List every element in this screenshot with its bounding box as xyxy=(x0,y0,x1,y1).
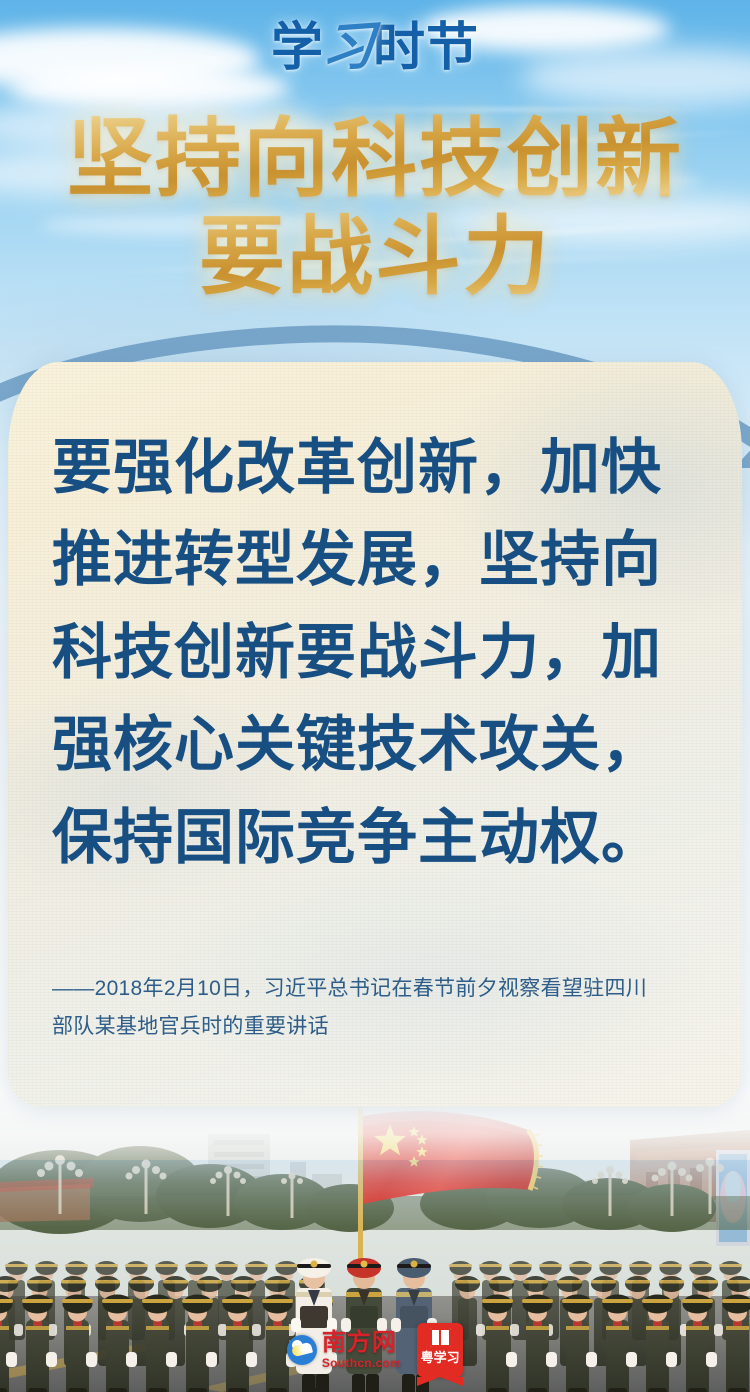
quote-line: 推进转型发展，坚持向 xyxy=(52,514,698,606)
quote-line: 科技创新要战斗力，加 xyxy=(52,607,698,699)
open-book-icon xyxy=(430,1328,451,1347)
yuexuexi-label: 粤学习 xyxy=(421,1351,460,1364)
brand-logo-part1: 学 xyxy=(271,19,324,77)
quote-line: 要强化改革创新，加快 xyxy=(52,422,698,514)
headline: 坚持向科技创新 要战斗力 xyxy=(0,110,750,306)
brand-logo: 学习时节 xyxy=(0,22,750,74)
quote-card: 要强化改革创新，加快 推进转型发展，坚持向 科技创新要战斗力，加 强核心关键技术… xyxy=(0,318,750,1118)
headline-line-2: 要战斗力 xyxy=(0,208,750,306)
headline-line-1: 坚持向科技创新 xyxy=(0,110,750,208)
southcn-swan-icon xyxy=(287,1335,317,1365)
yuexuexi-logo[interactable]: 粤学习 xyxy=(417,1323,463,1377)
quote-line: 强核心关键技术攻关， xyxy=(52,699,698,791)
quote-text: 要强化改革创新，加快 推进转型发展，坚持向 科技创新要战斗力，加 强核心关键技术… xyxy=(52,422,698,884)
attribution-line-2: 部队某基地官兵时的重要讲话 xyxy=(52,1008,702,1046)
attribution: ——2018年2月10日，习近平总书记在春节前夕视察看望驻四川 部队某基地官兵时… xyxy=(52,970,702,1046)
southcn-logo[interactable]: 南方网 Southcn.com xyxy=(287,1331,401,1369)
southcn-name-en: Southcn.com xyxy=(322,1357,401,1369)
attribution-line-1: ——2018年2月10日，习近平总书记在春节前夕视察看望驻四川 xyxy=(52,970,702,1008)
brand-logo-part2: 时节 xyxy=(373,19,479,77)
quote-line: 保持国际竞争主动权。 xyxy=(52,792,698,884)
southcn-name-cn: 南方网 xyxy=(322,1331,401,1355)
brand-logo-script-char: 习 xyxy=(320,20,377,76)
poster-root: 学习时节 坚持向科技创新 要战斗力 要强化改革创新，加快 推进转型发展，坚持向 … xyxy=(0,0,750,1392)
footer-logos: 南方网 Southcn.com 粤学习 xyxy=(0,1323,750,1377)
